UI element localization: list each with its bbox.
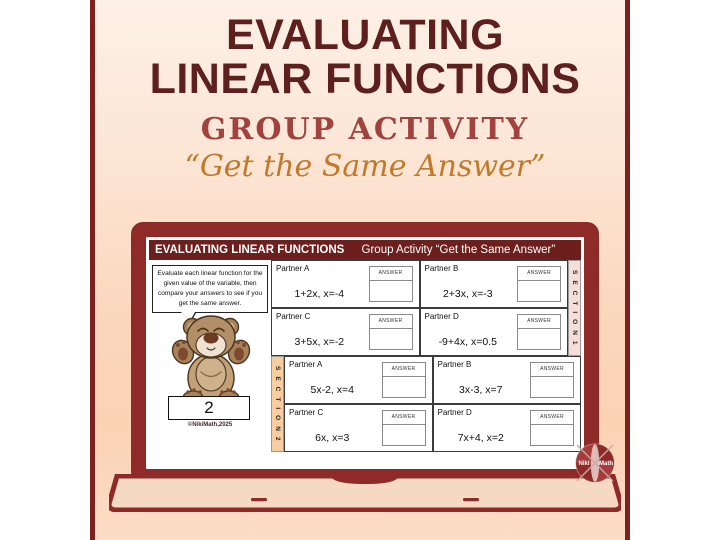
problem-grid: Partner A 1+2x, x=-4 ANSWER Partner B — [271, 260, 581, 452]
section-2-tab: S E C T I O N 2 — [271, 356, 284, 452]
expression-text: 7x+4, x=2 — [434, 432, 529, 444]
problem-cell[interactable]: Partner B 3x-3, x=7 ANSWER — [433, 356, 582, 404]
worksheet-header-title: EVALUATING LINEAR FUNCTIONS — [155, 244, 344, 256]
section-1-tab-text: S E C T I O N 1 — [571, 270, 578, 347]
expression-text: 3+5x, x=-2 — [272, 336, 367, 348]
answer-input[interactable]: ANSWER — [369, 266, 413, 302]
problem-cell[interactable]: Partner A 5x-2, x=4 ANSWER — [284, 356, 433, 404]
copyright-text: ©NikiMath,2025 — [167, 422, 253, 428]
answer-input[interactable]: ANSWER — [517, 314, 561, 350]
problem-cell[interactable]: Partner D 7x+4, x=2 ANSWER — [433, 404, 582, 452]
answer-label: ANSWER — [531, 411, 573, 425]
answer-label: ANSWER — [531, 363, 573, 377]
section-1-tab: S E C T I O N 1 — [568, 260, 581, 356]
section-1-cells: Partner A 1+2x, x=-4 ANSWER Partner B — [271, 260, 568, 356]
laptop-bezel: EVALUATING LINEAR FUNCTIONS Group Activi… — [142, 233, 588, 473]
answer-input[interactable]: ANSWER — [382, 410, 426, 446]
number-card: 2 — [168, 396, 250, 420]
answer-label: ANSWER — [370, 315, 412, 329]
answer-input[interactable]: ANSWER — [530, 410, 574, 446]
problem-cell[interactable]: Partner D -9+4x, x=0.5 ANSWER — [420, 308, 569, 356]
answer-label: ANSWER — [518, 315, 560, 329]
title-line-1: EVALUATING — [95, 14, 630, 58]
laptop-lid: EVALUATING LINEAR FUNCTIONS Group Activi… — [131, 222, 599, 484]
expression-text: 3x-3, x=7 — [434, 384, 529, 396]
section-2-cells: Partner A 5x-2, x=4 ANSWER Partner B — [284, 356, 581, 452]
bear-mascot-icon — [169, 312, 253, 404]
worksheet-header-subtitle: Group Activity “Get the Same Answer” — [362, 244, 556, 256]
section-2: S E C T I O N 2 Partner A 5x-2, x=4 — [271, 356, 581, 452]
problem-cell[interactable]: Partner B 2+3x, x=-3 ANSWER — [420, 260, 569, 308]
section-2-tab-text: S E C T I O N 2 — [274, 366, 281, 443]
answer-input[interactable]: ANSWER — [369, 314, 413, 350]
worksheet-left-column: Evaluate each linear function for the gi… — [149, 260, 271, 452]
table-row: Partner A 1+2x, x=-4 ANSWER Partner B — [271, 260, 568, 308]
table-row: Partner C 3+5x, x=-2 ANSWER Partner D — [271, 308, 568, 356]
tagline: “Get the Same Answer” — [95, 149, 630, 184]
answer-label: ANSWER — [383, 363, 425, 377]
problem-cell[interactable]: Partner C 3+5x, x=-2 ANSWER — [271, 308, 420, 356]
poster-canvas: EVALUATING LINEAR FUNCTIONS GROUP ACTIVI… — [90, 0, 630, 540]
laptop-base — [109, 474, 621, 512]
subtitle: GROUP ACTIVITY — [95, 112, 630, 147]
expression-text: 1+2x, x=-4 — [272, 288, 367, 300]
expression-text: 6x, x=3 — [285, 432, 380, 444]
problem-cell[interactable]: Partner C 6x, x=3 ANSWER — [284, 404, 433, 452]
problem-cell[interactable]: Partner A 1+2x, x=-4 ANSWER — [271, 260, 420, 308]
title-line-2: LINEAR FUNCTIONS — [95, 58, 630, 102]
answer-input[interactable]: ANSWER — [530, 362, 574, 398]
expression-text: -9+4x, x=0.5 — [421, 336, 516, 348]
answer-input[interactable]: ANSWER — [517, 266, 561, 302]
answer-label: ANSWER — [370, 267, 412, 281]
worksheet-body: Evaluate each linear function for the gi… — [149, 260, 581, 452]
instructions-speech-bubble: Evaluate each linear function for the gi… — [152, 265, 268, 313]
table-row: Partner A 5x-2, x=4 ANSWER Partner B — [284, 356, 581, 404]
laptop-mockup: EVALUATING LINEAR FUNCTIONS Group Activi… — [131, 222, 599, 484]
expression-text: 2+3x, x=-3 — [421, 288, 516, 300]
answer-label: ANSWER — [518, 267, 560, 281]
logo-left-text: Niki — [578, 461, 589, 467]
table-row: Partner C 6x, x=3 ANSWER Partner D — [284, 404, 581, 452]
section-1: Partner A 1+2x, x=-4 ANSWER Partner B — [271, 260, 581, 356]
laptop-screen: EVALUATING LINEAR FUNCTIONS Group Activi… — [149, 240, 581, 466]
nikimath-logo: Niki Math — [569, 437, 621, 489]
worksheet-header: EVALUATING LINEAR FUNCTIONS Group Activi… — [149, 240, 581, 260]
answer-label: ANSWER — [383, 411, 425, 425]
expression-text: 5x-2, x=4 — [285, 384, 380, 396]
answer-input[interactable]: ANSWER — [382, 362, 426, 398]
title-block: EVALUATING LINEAR FUNCTIONS GROUP ACTIVI… — [95, 14, 630, 184]
logo-right-text: Math — [599, 461, 613, 467]
